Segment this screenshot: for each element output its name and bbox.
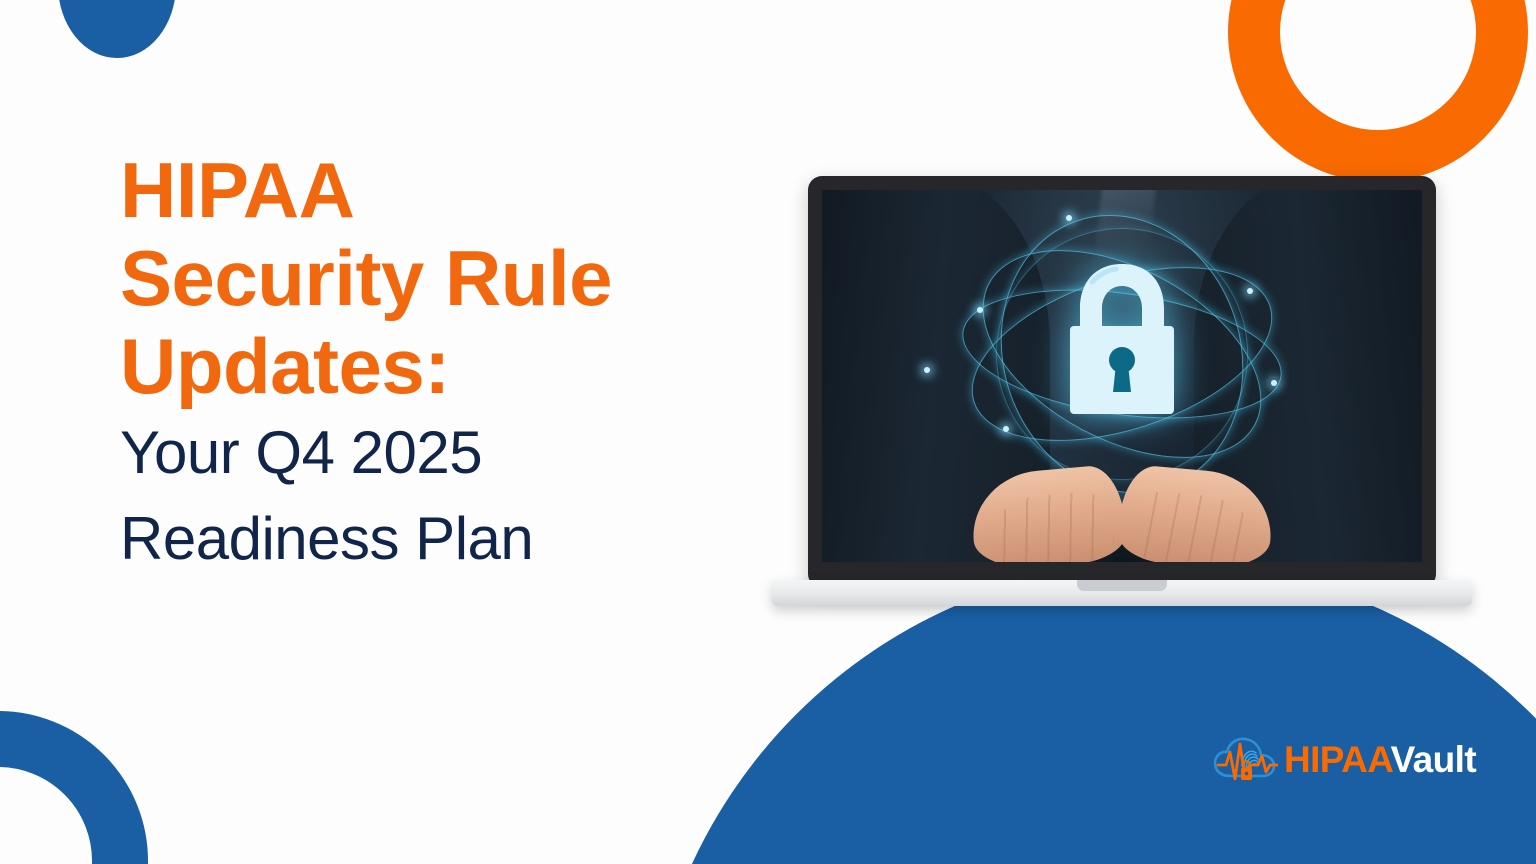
- laptop-illustration: [808, 176, 1436, 616]
- brand-name-secondary: Vault: [1391, 739, 1476, 780]
- cupped-hands-icon: [972, 446, 1272, 562]
- brand-logo[interactable]: HIPAAVault: [1212, 732, 1476, 786]
- decorative-circle-top-left: [58, 0, 176, 58]
- hand-left: [968, 464, 1128, 562]
- hand-right: [1116, 464, 1276, 562]
- headline-line-2: Security Rule: [120, 234, 800, 322]
- padlock-icon: [1058, 260, 1186, 418]
- subheadline-line-1: Your Q4 2025: [120, 410, 800, 495]
- laptop-bezel: [808, 176, 1436, 588]
- headline-line-1: HIPAA: [120, 146, 800, 234]
- glow-node: [977, 307, 983, 313]
- subheadline-line-2: Readiness Plan: [120, 496, 800, 581]
- laptop-hinge-notch: [1077, 580, 1167, 591]
- cloud-heartbeat-fingerprint-lock-icon: [1212, 732, 1278, 786]
- glow-node: [1271, 380, 1277, 386]
- headline-block: HIPAA Security Rule Updates: Your Q4 202…: [120, 146, 800, 581]
- laptop-screen: [822, 190, 1422, 562]
- decorative-ring-bottom-left: [0, 711, 148, 864]
- glow-node: [1003, 426, 1009, 432]
- headline-line-3: Updates:: [120, 322, 800, 410]
- brand-wordmark: HIPAAVault: [1284, 741, 1476, 778]
- brand-name-primary: HIPAA: [1284, 739, 1391, 780]
- decorative-ring-top-right: [1228, 0, 1528, 182]
- banner-canvas: HIPAA Security Rule Updates: Your Q4 202…: [0, 0, 1536, 864]
- glow-node: [1066, 215, 1072, 221]
